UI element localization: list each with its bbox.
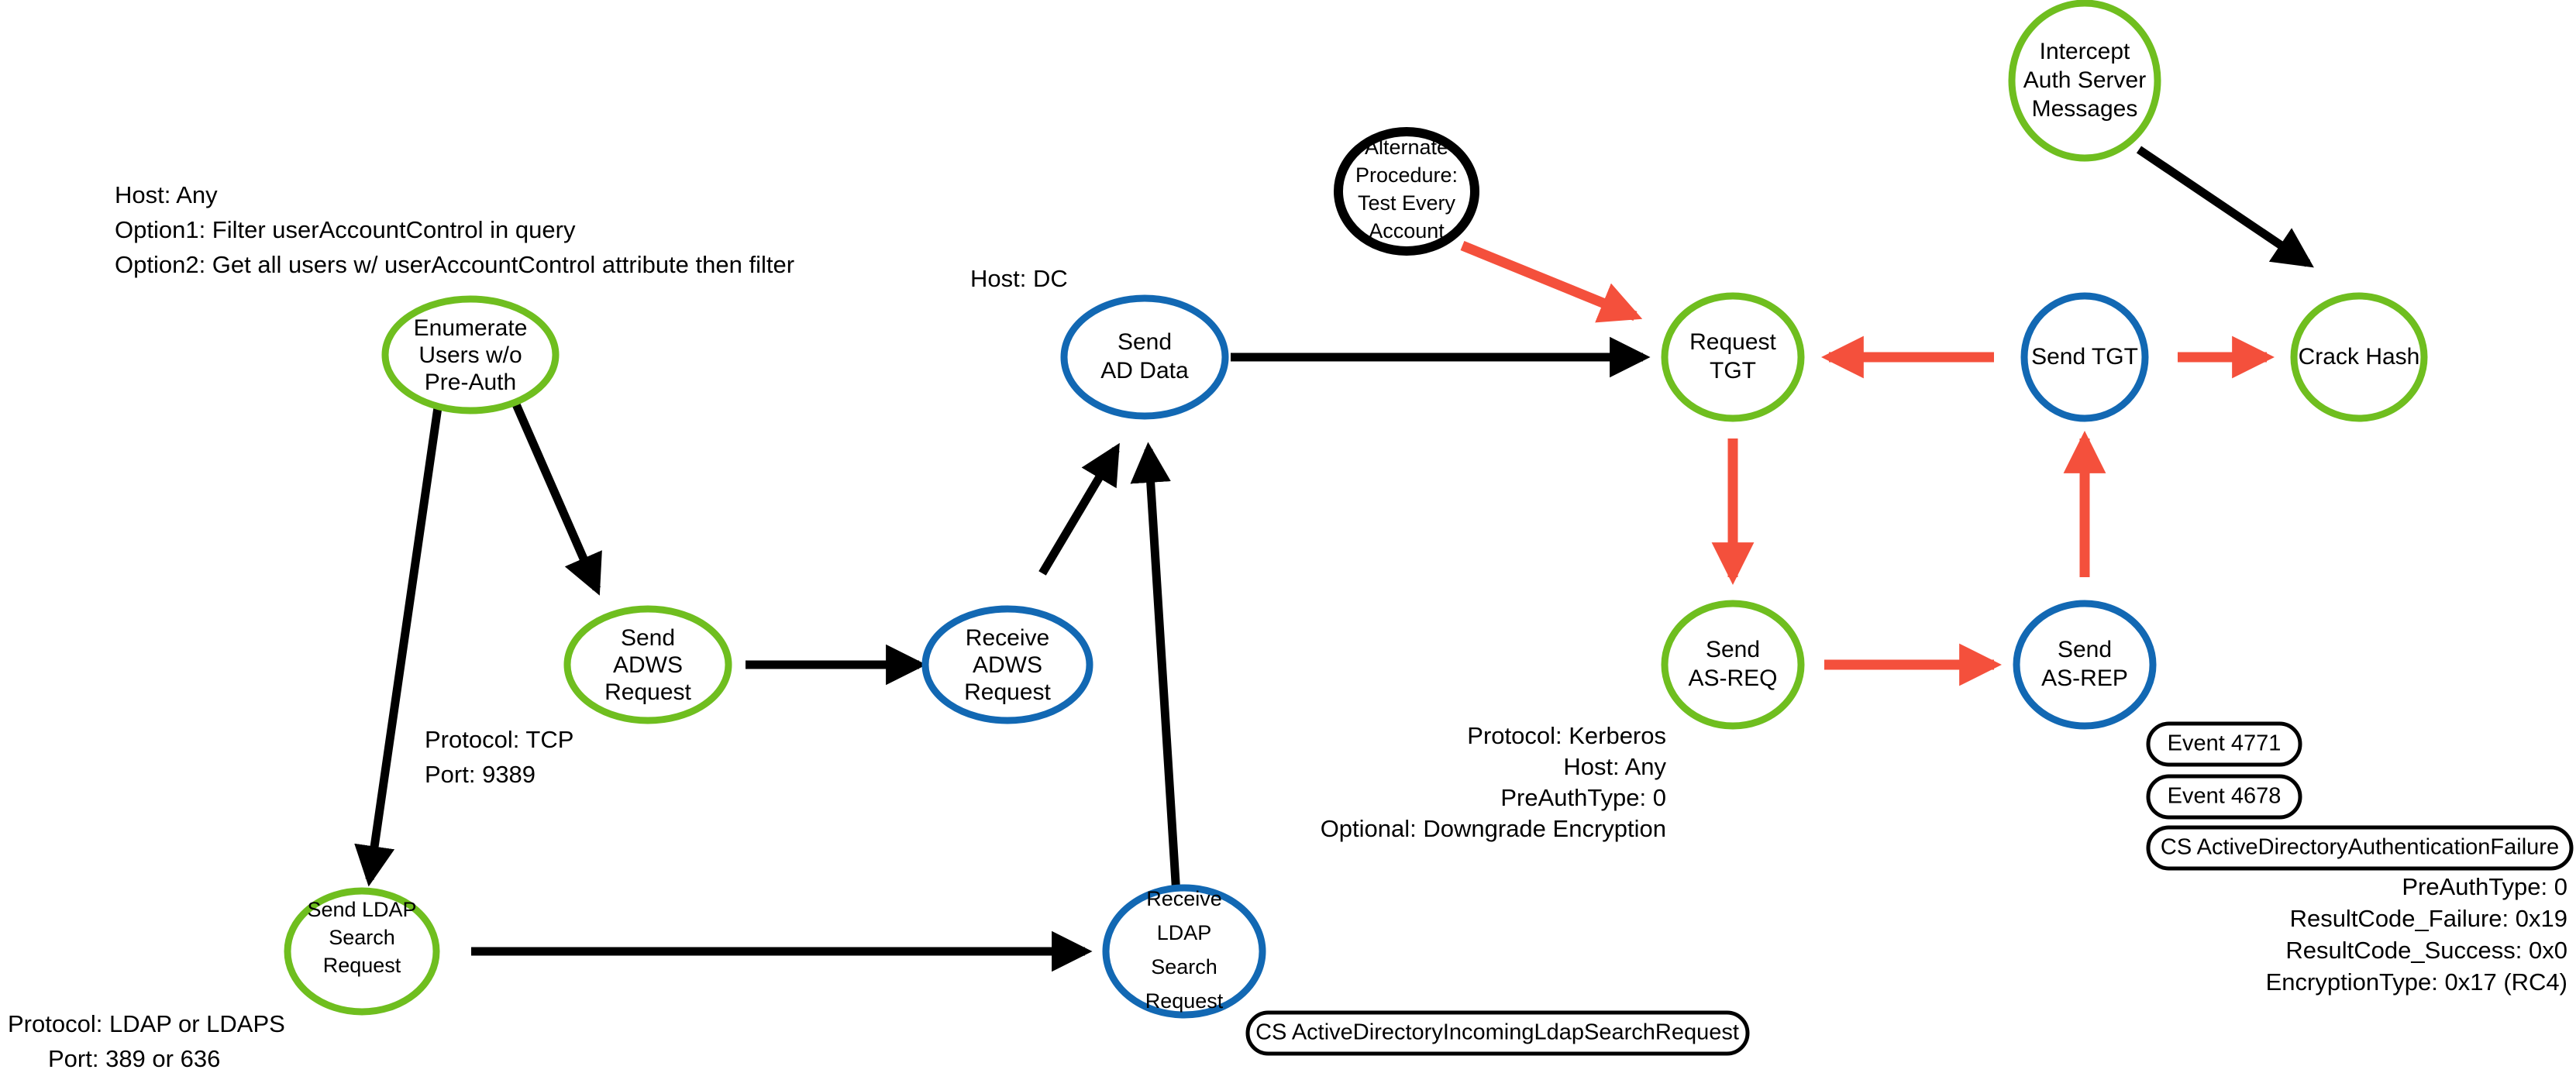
pills-layer: Event 4771 Event 4678 CS ActiveDirectory… [1248,724,2571,1054]
annotation-enumerate-note: Host: Any Option1: Filter userAccountCon… [115,181,794,278]
annotation-detection-values-line-1: ResultCode_Failure: 0x19 [2290,905,2567,932]
edge-intercept-to-crack-hash [2139,150,2308,263]
node-crack-hash[interactable]: Crack Hash [2294,296,2424,418]
node-intercept-auth-server[interactable]: Intercept Auth Server Messages [2012,3,2158,158]
nodes-layer: Enumerate Users w/o Pre-Auth Send ADWS R… [288,3,2424,1015]
node-receive-ldap-search-line-3: Request [1145,989,1224,1013]
diagram-canvas: Enumerate Users w/o Pre-Auth Send ADWS R… [0,0,2576,1073]
pill-cs-auth-failure-label: CS ActiveDirectoryAuthenticationFailure [2161,835,2559,860]
node-alternate-procedure[interactable]: Alternate Procedure: Test Every Account [1338,132,1475,251]
pill-event-4771-label: Event 4771 [2168,731,2282,756]
node-receive-ldap-search-line-2: Search [1151,955,1217,978]
annotation-kerberos-note-line-3: Optional: Downgrade Encryption [1321,815,1666,842]
node-crack-hash-line-0: Crack Hash [2299,344,2420,370]
node-receive-adws-request[interactable]: Receive ADWS Request [925,609,1090,720]
annotation-kerberos-note: Protocol: Kerberos Host: Any PreAuthType… [1321,722,1667,842]
node-send-tgt[interactable]: Send TGT [2024,296,2145,418]
node-send-ad-data[interactable]: Send AD Data [1064,298,1225,416]
node-intercept-auth-server-line-0: Intercept [2040,39,2130,64]
pill-cs-ldap-search[interactable]: CS ActiveDirectoryIncomingLdapSearchRequ… [1248,1013,1748,1054]
annotation-send-ad-data-note: Host: DC [970,265,1068,292]
pill-event-4771[interactable]: Event 4771 [2148,724,2300,765]
node-send-tgt-line-0: Send TGT [2031,344,2138,370]
edge-receive-ldap-to-send-ad-data [1149,449,1176,895]
annotation-ldap-note-line-1: Port: 389 or 636 [48,1045,220,1072]
node-send-ldap-search-line-1: Search [329,926,395,949]
node-send-as-req[interactable]: Send AS-REQ [1665,604,1801,726]
node-send-as-rep-line-1: AS-REP [2041,665,2128,691]
node-enumerate-users-line-1: Users w/o [418,342,522,368]
node-receive-ldap-search[interactable]: Receive LDAP Search Request [1106,887,1262,1015]
node-alternate-procedure-line-3: Account [1369,219,1445,242]
node-send-adws-request-line-1: ADWS [613,652,683,678]
node-receive-ldap-search-line-0: Receive [1146,887,1222,910]
node-send-as-req-line-1: AS-REQ [1688,665,1777,691]
node-intercept-auth-server-line-2: Messages [2032,96,2138,122]
annotation-adws-note-line-0: Protocol: TCP [425,726,573,753]
edge-enumerate-to-send-adws [505,380,597,589]
node-send-ldap-search-line-0: Send LDAP [307,898,416,921]
node-alternate-procedure-line-2: Test Every [1358,191,1456,215]
edge-receive-adws-to-send-ad-data [1042,449,1116,573]
node-send-ad-data-line-0: Send [1118,329,1172,355]
annotation-kerberos-note-line-1: Host: Any [1563,753,1666,780]
node-request-tgt-line-1: TGT [1710,358,1756,383]
pill-event-4678[interactable]: Event 4678 [2148,776,2300,817]
edge-enumerate-to-send-ldap [370,391,440,879]
attack-flow-diagram: Enumerate Users w/o Pre-Auth Send ADWS R… [0,0,2576,1073]
pill-cs-auth-failure[interactable]: CS ActiveDirectoryAuthenticationFailure [2148,827,2571,868]
annotation-send-ad-data-note-line-0: Host: DC [970,265,1068,292]
annotation-kerberos-note-line-2: PreAuthType: 0 [1500,784,1666,811]
node-enumerate-users[interactable]: Enumerate Users w/o Pre-Auth [385,299,556,411]
node-receive-adws-request-line-2: Request [964,679,1051,705]
annotation-detection-values-line-3: EncryptionType: 0x17 (RC4) [2266,968,2567,996]
node-enumerate-users-line-2: Pre-Auth [425,370,516,395]
annotation-detection-values-line-2: ResultCode_Success: 0x0 [2285,937,2567,964]
annotation-enumerate-note-line-2: Option2: Get all users w/ userAccountCon… [115,251,794,278]
node-receive-adws-request-line-0: Receive [966,625,1049,651]
annotation-enumerate-note-line-0: Host: Any [115,181,218,208]
annotation-adws-note-line-1: Port: 9389 [425,761,536,788]
node-request-tgt-line-0: Request [1689,329,1776,355]
annotation-enumerate-note-line-1: Option1: Filter userAccountControl in qu… [115,216,576,243]
annotation-detection-values-line-0: PreAuthType: 0 [2402,873,2567,900]
node-send-as-rep[interactable]: Send AS-REP [2016,604,2153,726]
node-enumerate-users-line-0: Enumerate [414,315,528,341]
node-send-ldap-search[interactable]: Send LDAP Search Request [288,891,436,1012]
node-request-tgt[interactable]: Request TGT [1665,296,1801,418]
node-send-adws-request[interactable]: Send ADWS Request [567,609,728,720]
annotation-ldap-note: Protocol: LDAP or LDAPS Port: 389 or 636 [8,1010,285,1072]
annotation-adws-note: Protocol: TCP Port: 9389 [425,726,573,788]
annotation-ldap-note-line-0: Protocol: LDAP or LDAPS [8,1010,285,1037]
node-intercept-auth-server-line-1: Auth Server [2023,67,2146,93]
node-send-adws-request-line-0: Send [621,625,675,651]
node-alternate-procedure-line-0: Alternate [1365,136,1448,159]
pill-cs-ldap-search-label: CS ActiveDirectoryIncomingLdapSearchRequ… [1255,1020,1739,1045]
node-send-ldap-search-line-2: Request [323,954,401,977]
node-send-as-req-line-0: Send [1706,637,1760,662]
node-receive-adws-request-line-1: ADWS [973,652,1042,678]
pill-event-4678-label: Event 4678 [2168,784,2282,809]
annotation-kerberos-note-line-0: Protocol: Kerberos [1467,722,1666,749]
node-receive-ldap-search-line-1: LDAP [1157,921,1212,944]
node-alternate-procedure-line-1: Procedure: [1355,163,1458,187]
node-send-as-rep-line-0: Send [2058,637,2112,662]
node-send-ad-data-line-1: AD Data [1100,358,1189,383]
edge-alternate-procedure-to-request-tgt [1462,246,1635,316]
annotation-detection-values: PreAuthType: 0 ResultCode_Failure: 0x19 … [2266,873,2567,996]
node-send-adws-request-line-2: Request [604,679,691,705]
